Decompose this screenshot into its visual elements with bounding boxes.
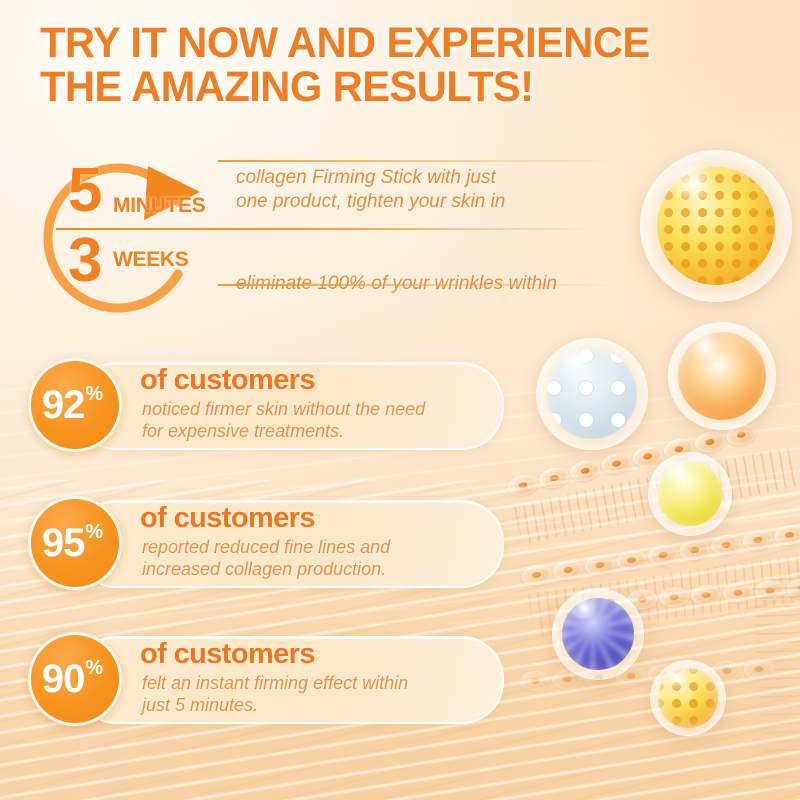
stat-percent-symbol-90: % <box>85 657 103 680</box>
bubble-cluster-sphere <box>536 338 648 450</box>
stat-percent-value-92: 92 <box>42 385 85 425</box>
stat-lead-92: of customers <box>140 364 315 397</box>
headline-line-2: THE AMAZING RESULTS! <box>40 66 719 110</box>
stat-lead-90: of customers <box>140 638 315 671</box>
time-row-weeks: 3 WEEKS eliminate 100% of your wrinkles … <box>68 232 588 298</box>
stat-percent-badge-92: 92 % <box>28 358 122 452</box>
divider-top <box>218 160 618 162</box>
stat-row-92: 92 % of customers noticed firmer skin wi… <box>28 358 500 450</box>
poster-canvas: TRY IT NOW AND EXPERIENCE THE AMAZING RE… <box>0 0 800 800</box>
time-text-minutes: collagen Firming Stick with just one pro… <box>236 166 505 214</box>
stat-percent-value-95: 95 <box>42 523 85 563</box>
stat-percent-symbol-92: % <box>85 383 103 406</box>
divider-bottom <box>218 284 618 286</box>
stat-desc-92: noticed firmer skin without the need for… <box>142 398 502 443</box>
stat-desc-90: felt an instant firming effect within ju… <box>142 672 502 717</box>
stat-percent-value-90: 90 <box>42 659 85 699</box>
stat-percent-symbol-95: % <box>85 521 103 544</box>
stat-desc-95: reported reduced fine lines and increase… <box>142 536 502 581</box>
stat-percent-badge-90: 90 % <box>28 632 122 726</box>
glow-sphere-orange <box>668 322 776 430</box>
time-unit-minutes: MINUTES <box>113 194 205 218</box>
headline-line-1: TRY IT NOW AND EXPERIENCE <box>40 22 719 66</box>
time-number-minutes: 5 <box>68 160 102 222</box>
headline: TRY IT NOW AND EXPERIENCE THE AMAZING RE… <box>40 22 719 110</box>
time-unit-weeks: WEEKS <box>113 248 189 272</box>
divider-middle <box>56 228 596 230</box>
stat-lead-95: of customers <box>140 502 315 535</box>
time-claim-block: 5 MINUTES collagen Firming Stick with ju… <box>28 158 588 318</box>
time-number-weeks: 3 <box>68 230 102 292</box>
oil-droplet-sphere <box>648 452 732 536</box>
swirl-sphere-purple <box>552 588 644 680</box>
honeycomb-sphere-large <box>640 150 792 302</box>
stat-row-90: 90 % of customers felt an instant firmin… <box>28 632 500 724</box>
time-row-minutes: 5 MINUTES collagen Firming Stick with ju… <box>68 166 588 232</box>
time-claim-rows: 5 MINUTES collagen Firming Stick with ju… <box>68 166 588 298</box>
stat-row-95: 95 % of customers reported reduced fine … <box>28 496 500 588</box>
stat-percent-badge-95: 95 % <box>28 496 122 590</box>
honeycomb-sphere-small <box>650 660 726 736</box>
